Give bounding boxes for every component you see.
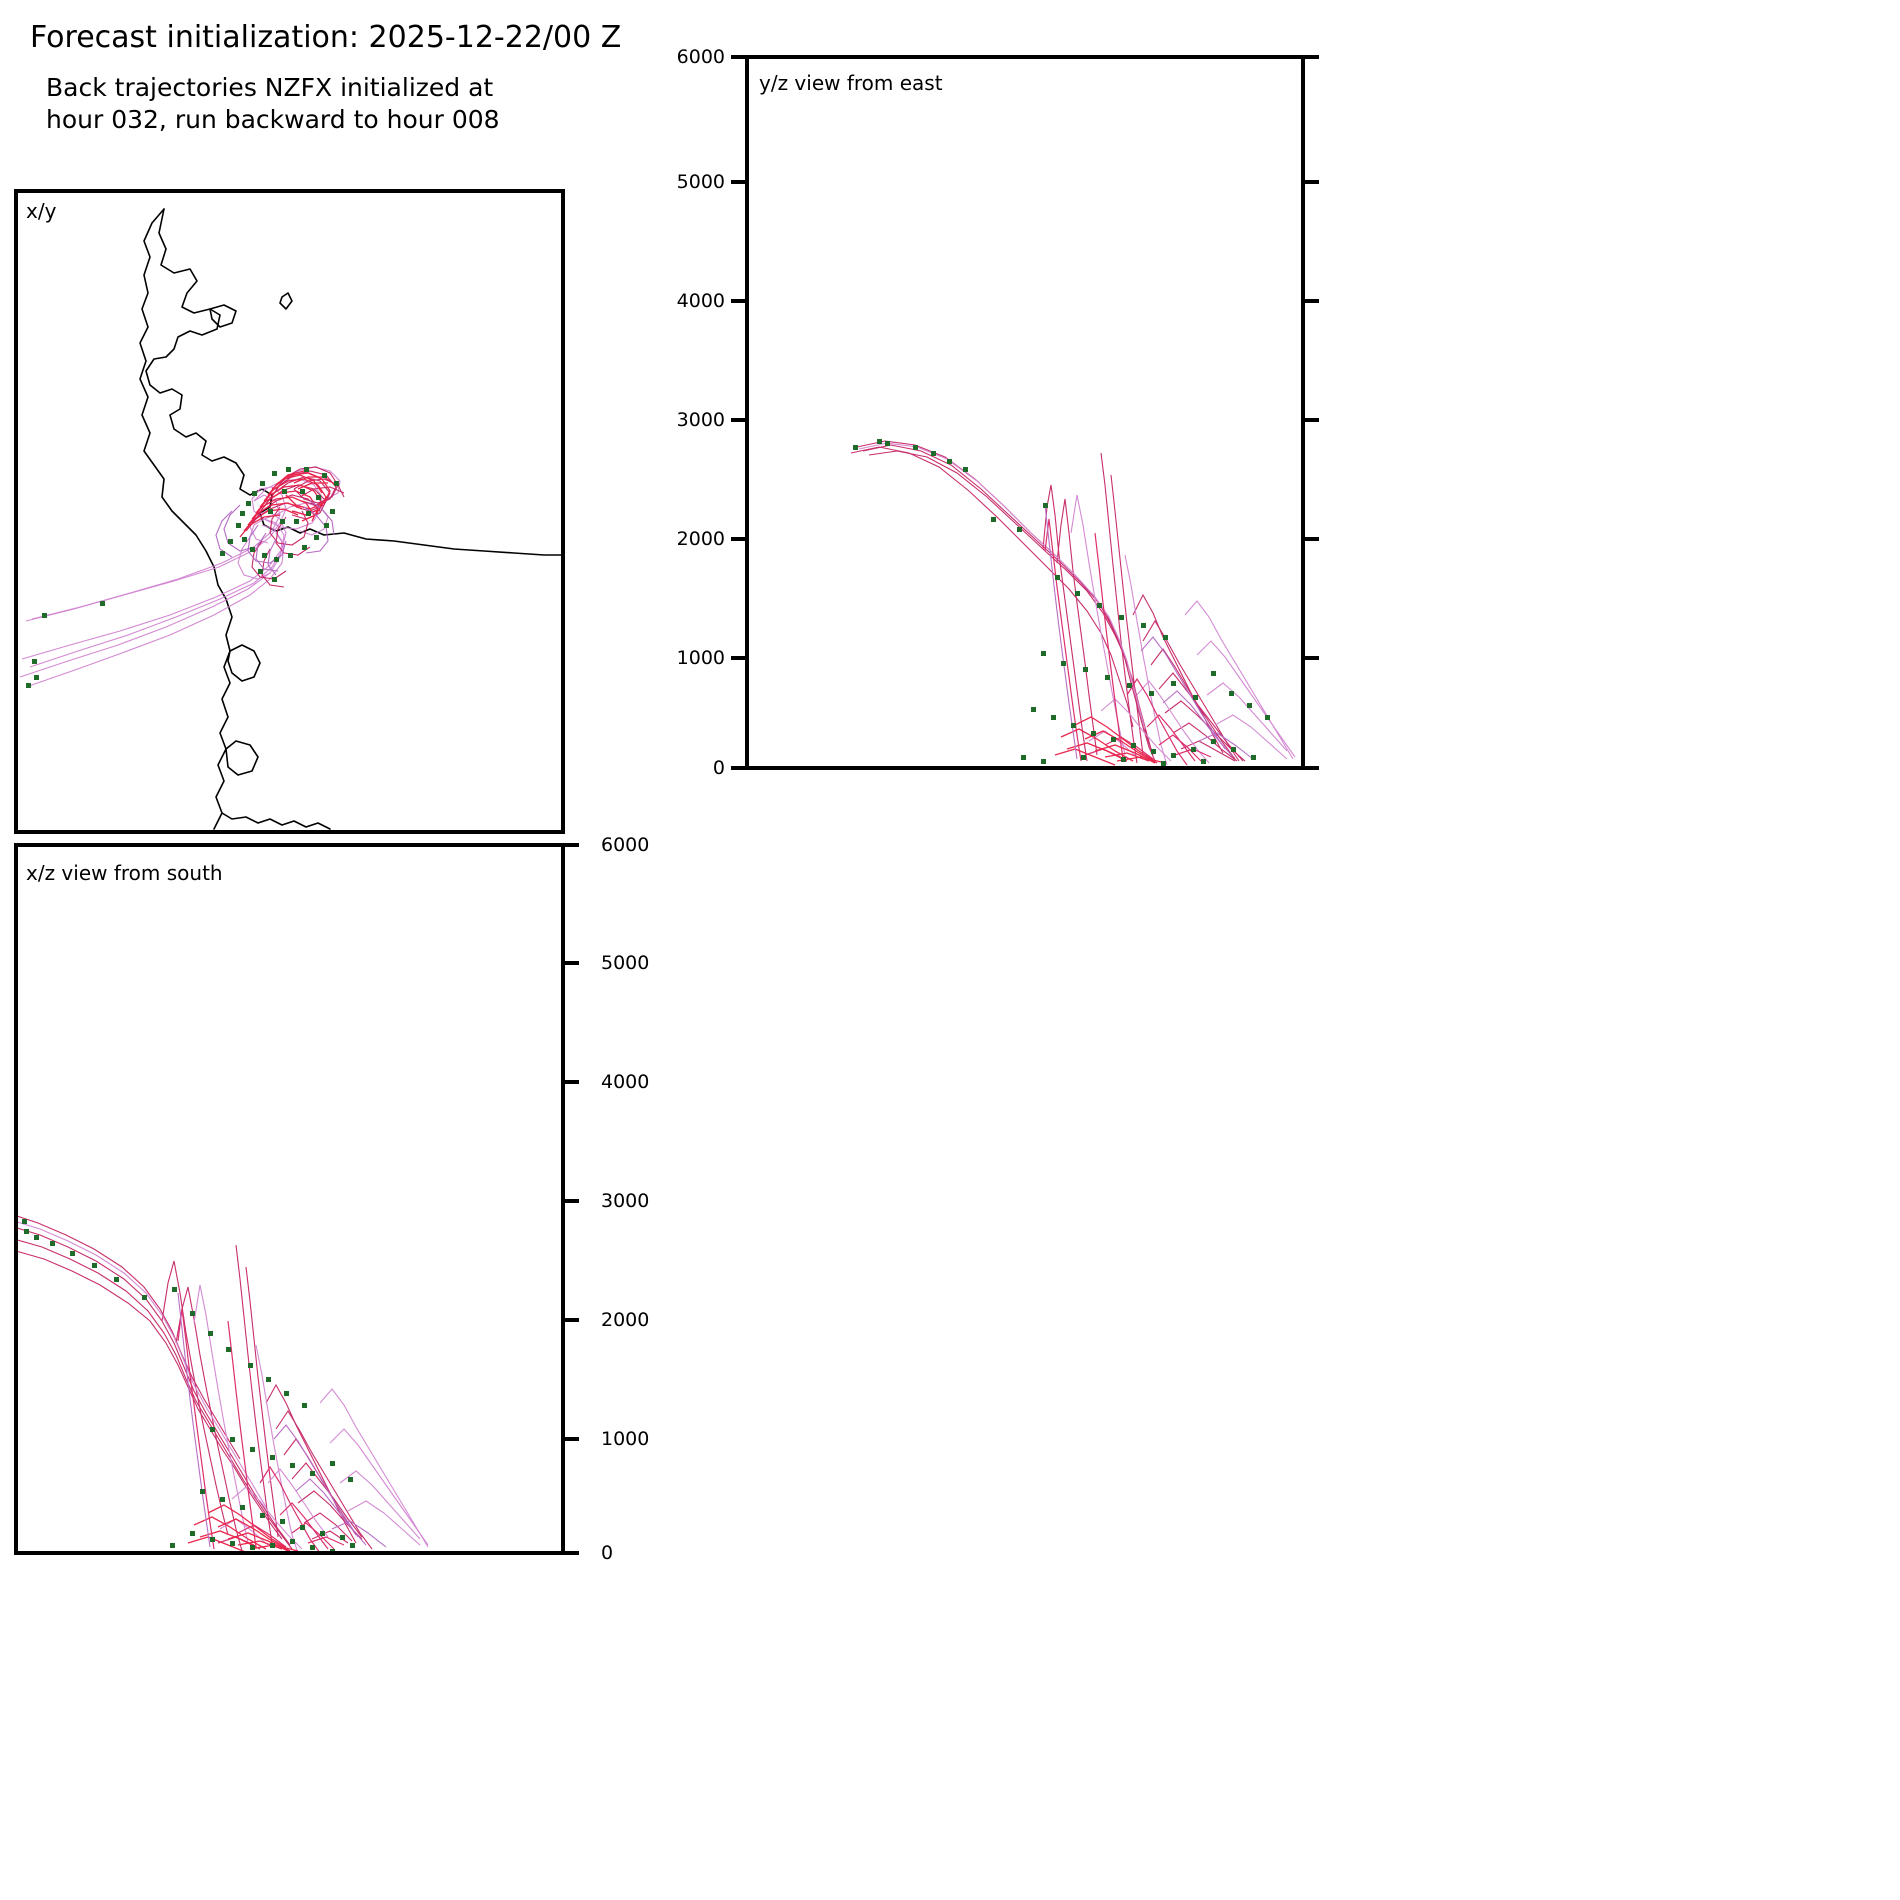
subtitle-line-2: hour 032, run backward to hour 008 [46, 105, 500, 134]
xz-ytick-0: 0 [601, 1542, 613, 1564]
page-title: Forecast initialization: 2025-12-22/00 Z [30, 20, 621, 55]
yz-ytick-5000: 5000 [677, 171, 725, 193]
panel-yz[interactable]: y/z view from east [745, 55, 1305, 770]
yz-axis-right [1305, 55, 1323, 770]
yz-axis-left: 6000 5000 4000 3000 2000 1000 0 [676, 55, 745, 770]
xz-ytick-4000: 4000 [601, 1071, 649, 1093]
xz-trajectory-group [14, 1215, 428, 1553]
xz-ytick-2000: 2000 [601, 1309, 649, 1331]
xz-ytick-5000: 5000 [601, 952, 649, 974]
xz-plot-canvas [14, 843, 565, 1555]
coastline-group [140, 209, 565, 829]
yz-plot-canvas [745, 55, 1305, 770]
subtitle-line-1: Back trajectories NZFX initialized at [46, 73, 493, 102]
xz-ytick-3000: 3000 [601, 1190, 649, 1212]
yz-ytick-4000: 4000 [677, 290, 725, 312]
xy-plot-canvas [14, 189, 565, 834]
panel-xy[interactable]: x/y [14, 189, 565, 834]
yz-trajectory-group [851, 441, 1295, 765]
yz-ytick-1000: 1000 [677, 647, 725, 669]
yz-ytick-0: 0 [713, 757, 725, 779]
panel-label-xy: x/y [26, 199, 56, 223]
page-subtitle: Back trajectories NZFX initialized at ho… [46, 72, 500, 136]
yz-ytick-2000: 2000 [677, 528, 725, 550]
yz-ytick-3000: 3000 [677, 409, 725, 431]
trajectory-group [20, 467, 344, 687]
yz-ytick-6000: 6000 [677, 46, 725, 68]
xz-ytick-6000: 6000 [601, 834, 649, 856]
panel-xz[interactable]: x/z view from south [14, 843, 565, 1555]
xz-ytick-1000: 1000 [601, 1428, 649, 1450]
xz-axis-right: 6000 5000 4000 3000 2000 1000 0 [565, 843, 640, 1555]
panel-label-xz: x/z view from south [26, 861, 223, 885]
panel-label-yz: y/z view from east [759, 71, 943, 95]
